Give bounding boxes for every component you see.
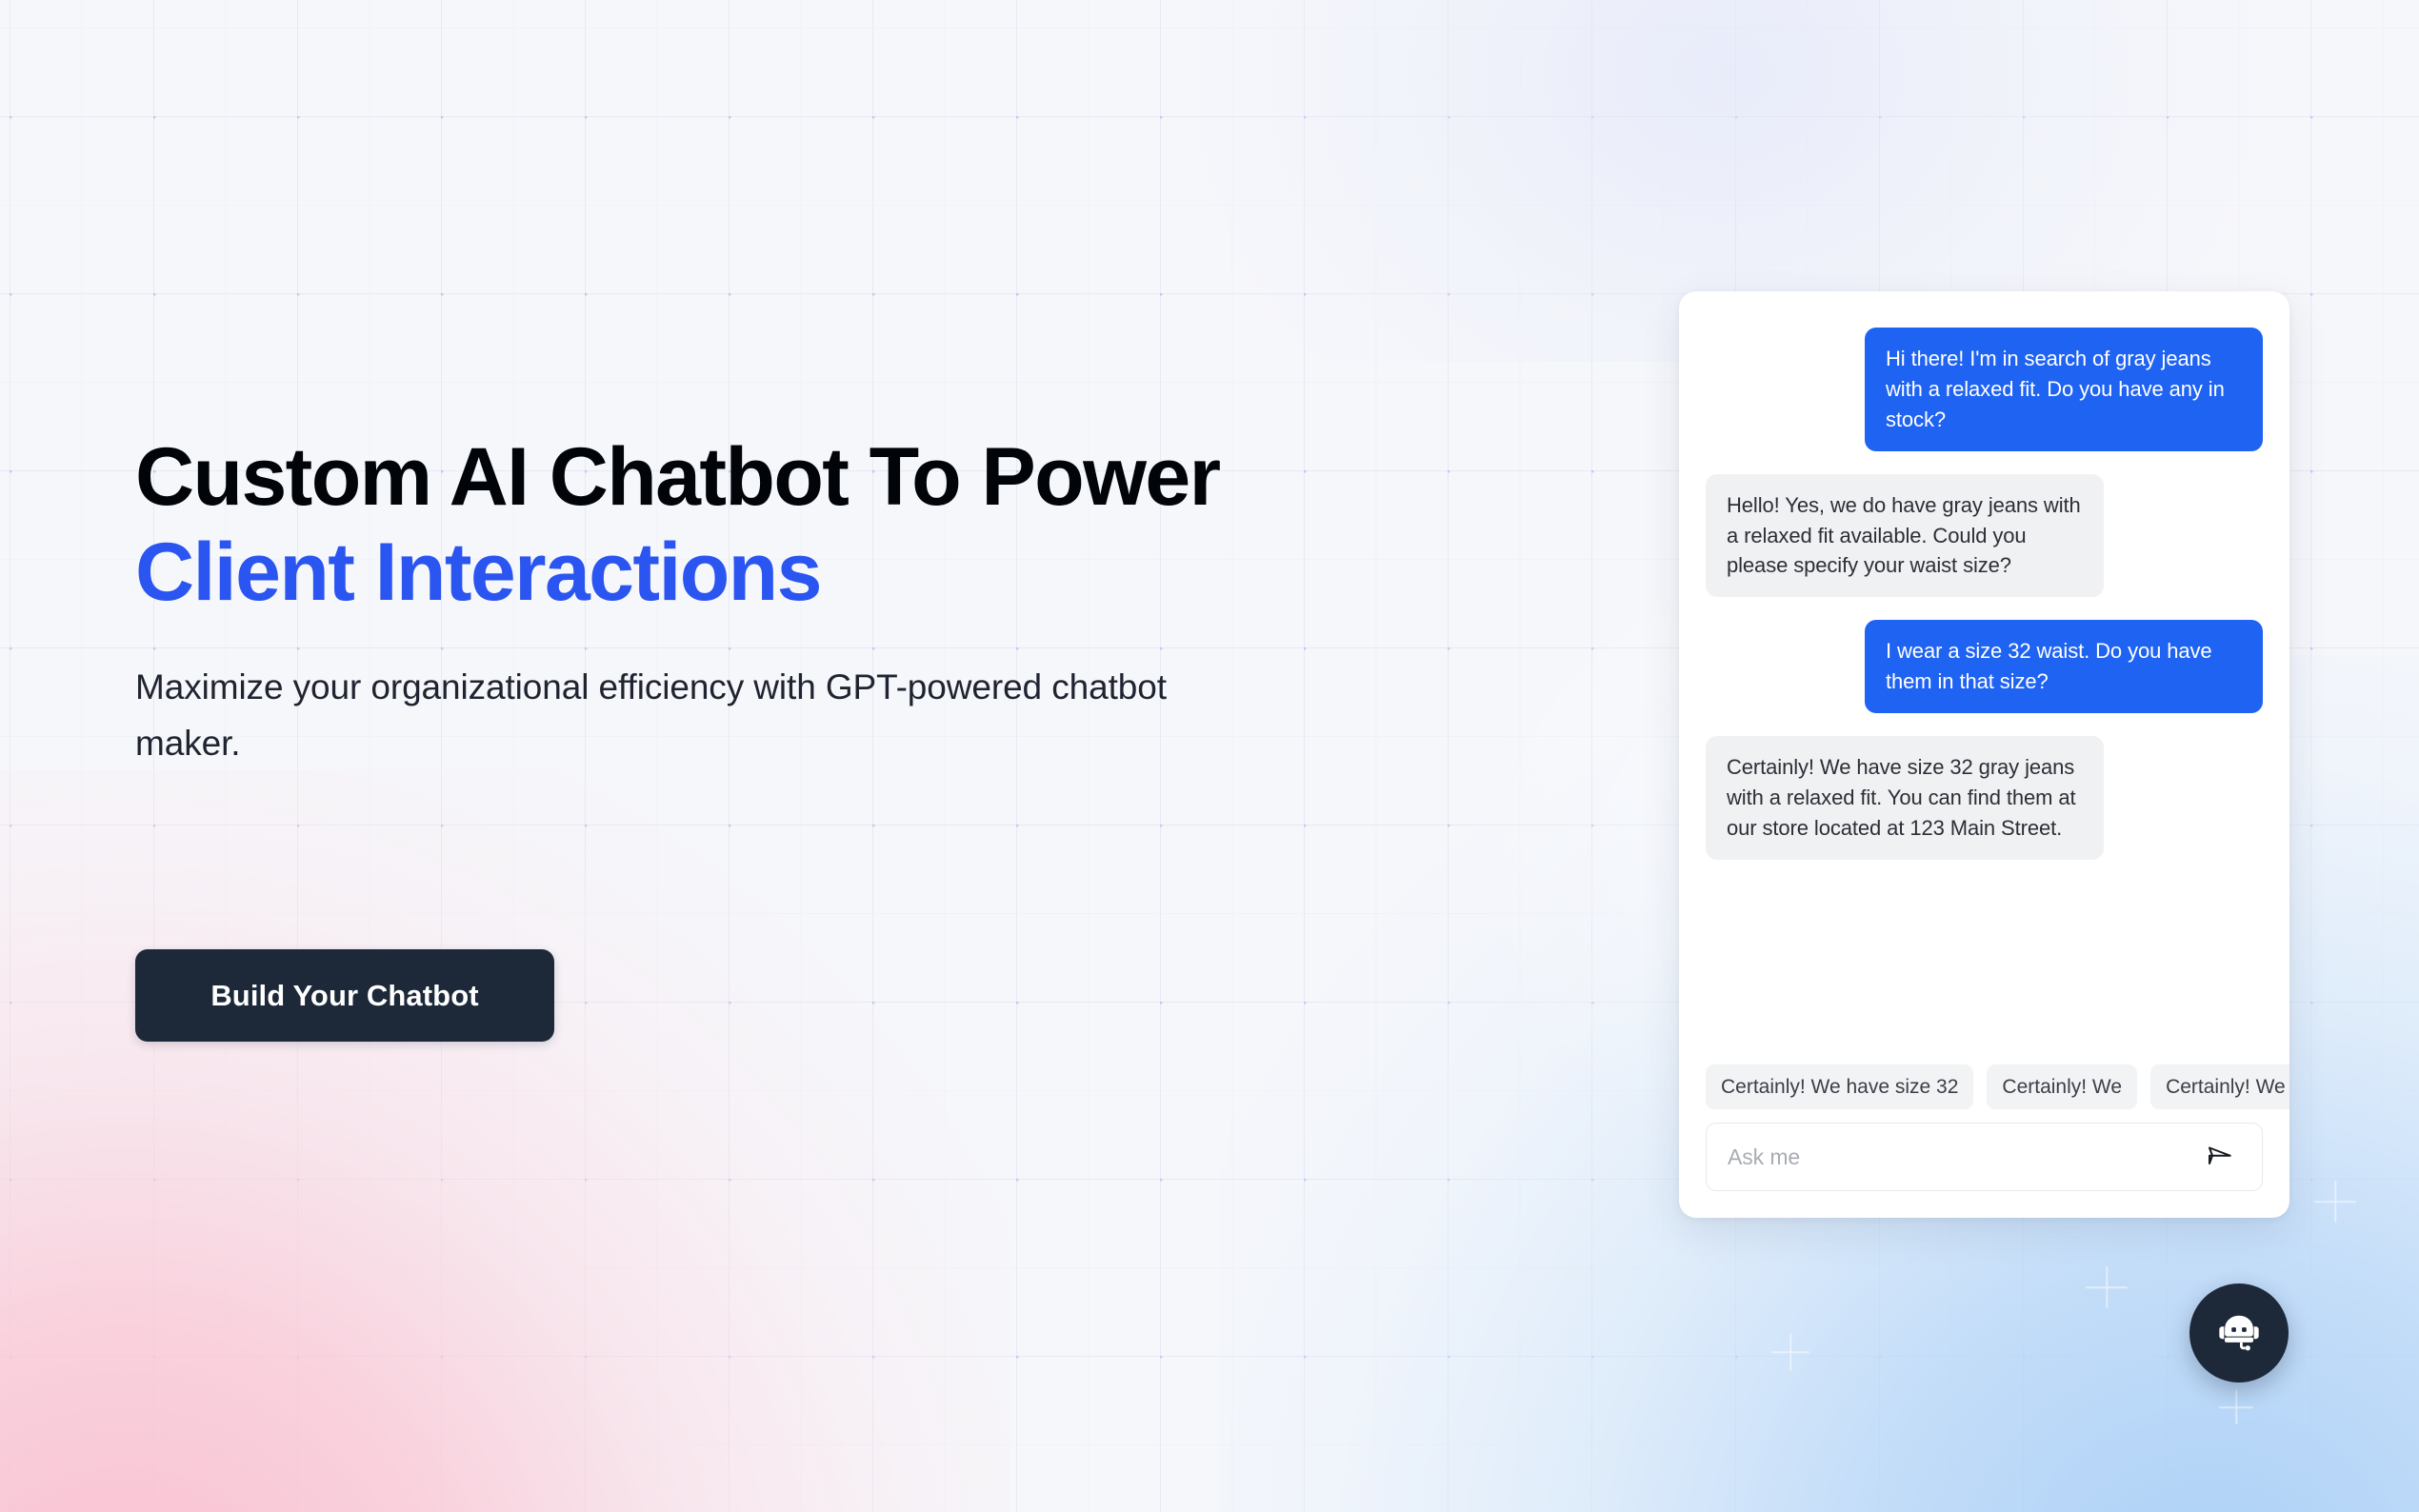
support-bot-headset-icon — [2211, 1304, 2267, 1363]
chat-message-list: Hi there! I'm in search of gray jeans wi… — [1679, 291, 2289, 1064]
suggestion-chip[interactable]: Certainly! We have size 32 — [1706, 1064, 1973, 1109]
suggestion-chip[interactable]: Certainly! We — [1987, 1064, 2137, 1109]
cta-label: Build Your Chatbot — [210, 979, 478, 1013]
chat-message-row: Hi there! I'm in search of gray jeans wi… — [1706, 328, 2263, 451]
suggestion-chip-row: Certainly! We have size 32 Certainly! We… — [1679, 1064, 2289, 1123]
suggestion-chip[interactable]: Certainly! We — [2150, 1064, 2289, 1109]
chat-composer — [1706, 1123, 2263, 1191]
chat-bubble-bot: Hello! Yes, we do have gray jeans with a… — [1706, 474, 2104, 598]
page-title: Custom AI Chatbot To Power Client Intera… — [135, 430, 1488, 621]
build-your-chatbot-button[interactable]: Build Your Chatbot — [135, 949, 554, 1042]
hero-subheading: Maximize your organizational efficiency … — [135, 659, 1173, 773]
chat-bubble-user: I wear a size 32 waist. Do you have them… — [1865, 620, 2263, 713]
chat-bubble-user: Hi there! I'm in search of gray jeans wi… — [1865, 328, 2263, 451]
chat-message-row: Hello! Yes, we do have gray jeans with a… — [1706, 474, 2263, 598]
send-paper-plane-icon — [2206, 1142, 2234, 1173]
hero-section: Custom AI Chatbot To Power Client Intera… — [0, 0, 2419, 1512]
chat-launcher-button[interactable] — [2189, 1283, 2289, 1383]
headline-line-accent: Client Interactions — [135, 526, 1488, 621]
headline-line-primary: Custom AI Chatbot To Power — [135, 431, 1219, 523]
chat-bubble-bot: Certainly! We have size 32 gray jeans wi… — [1706, 736, 2104, 860]
chat-message-input[interactable] — [1728, 1144, 2199, 1170]
send-button[interactable] — [2199, 1136, 2241, 1178]
chat-message-row: Certainly! We have size 32 gray jeans wi… — [1706, 736, 2263, 860]
chat-widget-card: Hi there! I'm in search of gray jeans wi… — [1679, 291, 2289, 1218]
hero-copy: Custom AI Chatbot To Power Client Intera… — [135, 430, 1488, 772]
chat-message-row: I wear a size 32 waist. Do you have them… — [1706, 620, 2263, 713]
